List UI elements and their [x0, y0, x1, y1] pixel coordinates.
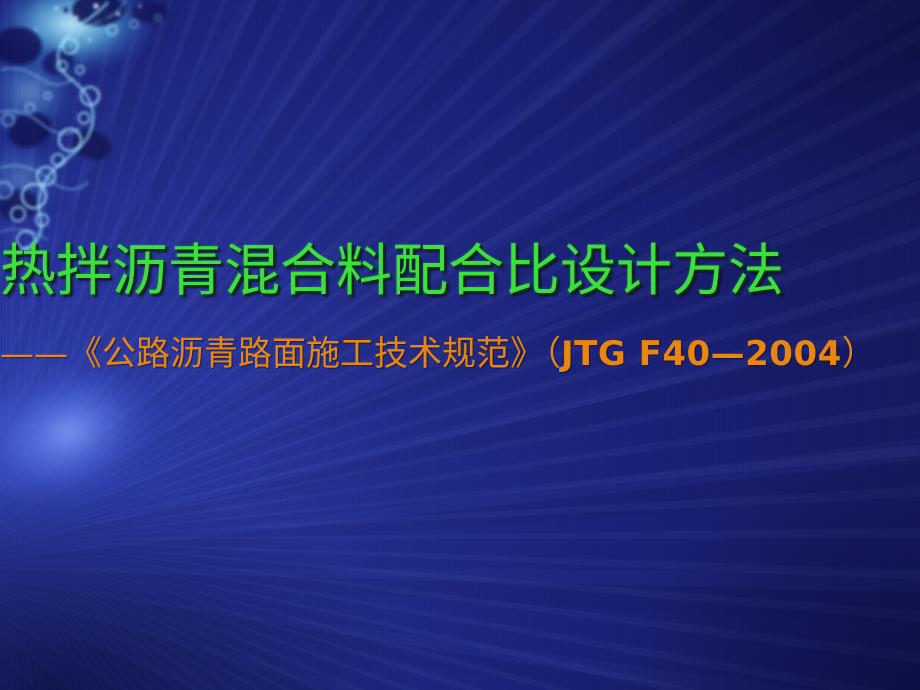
- presentation-slide: 热拌沥青混合料配合比设计方法 ——《公路沥青路面施工技术规范》（JTG F40—…: [0, 0, 920, 690]
- subtitle-standard-code: JTG F40—: [561, 334, 745, 374]
- subtitle-closing-paren: ）: [842, 334, 876, 374]
- slide-title: 热拌沥青混合料配合比设计方法: [0, 239, 920, 305]
- subtitle-standard-name: ——《公路沥青路面施工技术规范》（: [0, 334, 561, 374]
- subtitle-standard-year: 2004: [745, 334, 842, 374]
- slide-subtitle: ——《公路沥青路面施工技术规范》（JTG F40—2004）: [0, 330, 920, 378]
